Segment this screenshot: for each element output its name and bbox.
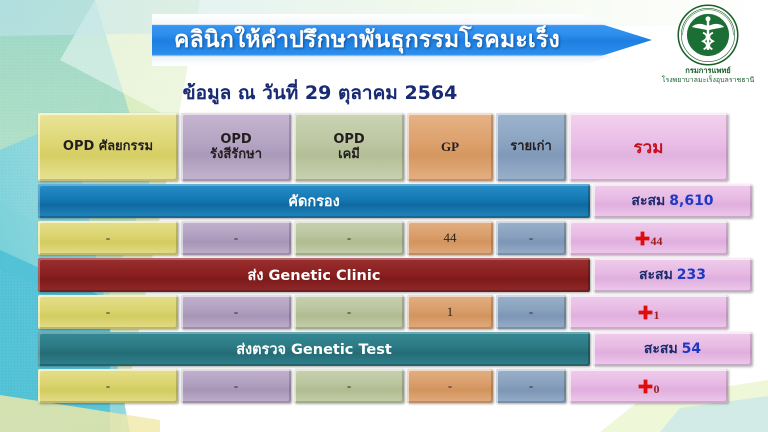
page-title: คลินิกให้คำปรึกษาพันธุกรรมโรคมะเร็ง <box>152 14 582 66</box>
cell-opd-chemo: - <box>294 221 404 255</box>
cell-opd-radiotherapy: - <box>181 369 291 403</box>
cell-gp: - <box>407 369 493 403</box>
column-header-opd-radiotherapy-line1: OPD <box>210 132 262 147</box>
banner-label-refer-genetic-clinic: ส่ง Genetic Clinic <box>38 258 590 292</box>
column-header-opd-radiotherapy-line2: รังสีรักษา <box>210 147 262 162</box>
table-row: ส่งตรวจ Genetic Test สะสม 54 <box>38 332 752 366</box>
cell-opd-chemo: - <box>294 295 404 329</box>
banner-label-screening: คัดกรอง <box>38 184 590 218</box>
table-row: - - - - - 0 <box>38 369 752 403</box>
column-header-opd-radiotherapy: OPD รังสีรักษา <box>181 113 291 181</box>
cell-opd-radiotherapy: - <box>181 295 291 329</box>
total-accumulated-refer-genetic-clinic: สะสม 233 <box>593 258 752 292</box>
table-row: - - - 44 - 44 <box>38 221 752 255</box>
logo-department-label: กรมการแพทย์ <box>652 67 764 76</box>
table-row: ส่ง Genetic Clinic สะสม 233 <box>38 258 752 292</box>
cell-existing-cases: - <box>496 295 566 329</box>
accumulated-label: สะสม <box>631 190 665 212</box>
cell-existing-cases: - <box>496 369 566 403</box>
red-cross-icon <box>635 231 650 246</box>
delta-value: 44 <box>651 234 663 249</box>
accumulated-value: 8,610 <box>669 193 713 209</box>
total-accumulated-screening: สะสม 8,610 <box>593 184 752 218</box>
column-header-opd-chemo-line2: เคมี <box>333 147 364 162</box>
table-header-row: OPD ศัลยกรรม OPD รังสีรักษา OPD เคมี GP … <box>38 113 752 181</box>
cell-opd-surgery: - <box>38 295 178 329</box>
column-header-opd-surgery: OPD ศัลยกรรม <box>38 113 178 181</box>
data-as-of-subtitle: ข้อมูล ณ วันที่ 29 ตุลาคม 2564 <box>0 78 640 108</box>
logo-hospital-label: โรงพยาบาลมะเร็งอุบลราชธานี <box>652 76 764 84</box>
cell-opd-chemo: - <box>294 369 404 403</box>
total-delta-screening: 44 <box>569 221 728 255</box>
cell-opd-surgery: - <box>38 221 178 255</box>
cell-gp: 44 <box>407 221 493 255</box>
accumulated-value: 233 <box>677 267 706 283</box>
total-delta-genetic-test: 0 <box>569 369 728 403</box>
total-accumulated-genetic-test: สะสม 54 <box>593 332 752 366</box>
cell-existing-cases: - <box>496 221 566 255</box>
delta-value: 1 <box>654 308 660 323</box>
column-header-opd-chemo: OPD เคมี <box>294 113 404 181</box>
title-banner: คลินิกให้คำปรึกษาพันธุกรรมโรคมะเร็ง <box>152 14 652 66</box>
table-row: คัดกรอง สะสม 8,610 <box>38 184 752 218</box>
delta-value: 0 <box>654 382 660 397</box>
column-header-opd-chemo-line1: OPD <box>333 132 364 147</box>
accumulated-label: สะสม <box>644 338 678 360</box>
cell-gp: 1 <box>407 295 493 329</box>
cell-opd-surgery: - <box>38 369 178 403</box>
table-row: - - - 1 - 1 <box>38 295 752 329</box>
column-header-existing-cases-line1: รายเก่า <box>510 139 552 154</box>
accumulated-value: 54 <box>682 341 701 357</box>
column-header-total: รวม <box>569 113 728 181</box>
column-header-gp: GP <box>407 113 493 181</box>
total-delta-refer-genetic-clinic: 1 <box>569 295 728 329</box>
accumulated-label: สะสม <box>639 264 673 286</box>
cell-opd-radiotherapy: - <box>181 221 291 255</box>
column-header-opd-surgery-line1: OPD ศัลยกรรม <box>63 139 153 154</box>
hospital-logo-block: กรมการแพทย์ โรงพยาบาลมะเร็งอุบลราชธานี <box>652 4 764 84</box>
genetic-clinic-stats-table: OPD ศัลยกรรม OPD รังสีรักษา OPD เคมี GP … <box>38 113 752 403</box>
banner-label-genetic-test: ส่งตรวจ Genetic Test <box>38 332 590 366</box>
ministry-of-public-health-emblem-icon <box>677 4 739 66</box>
column-header-gp-line1: GP <box>441 139 459 154</box>
red-cross-icon <box>638 305 653 320</box>
red-cross-icon <box>638 379 653 394</box>
column-header-existing-cases: รายเก่า <box>496 113 566 181</box>
